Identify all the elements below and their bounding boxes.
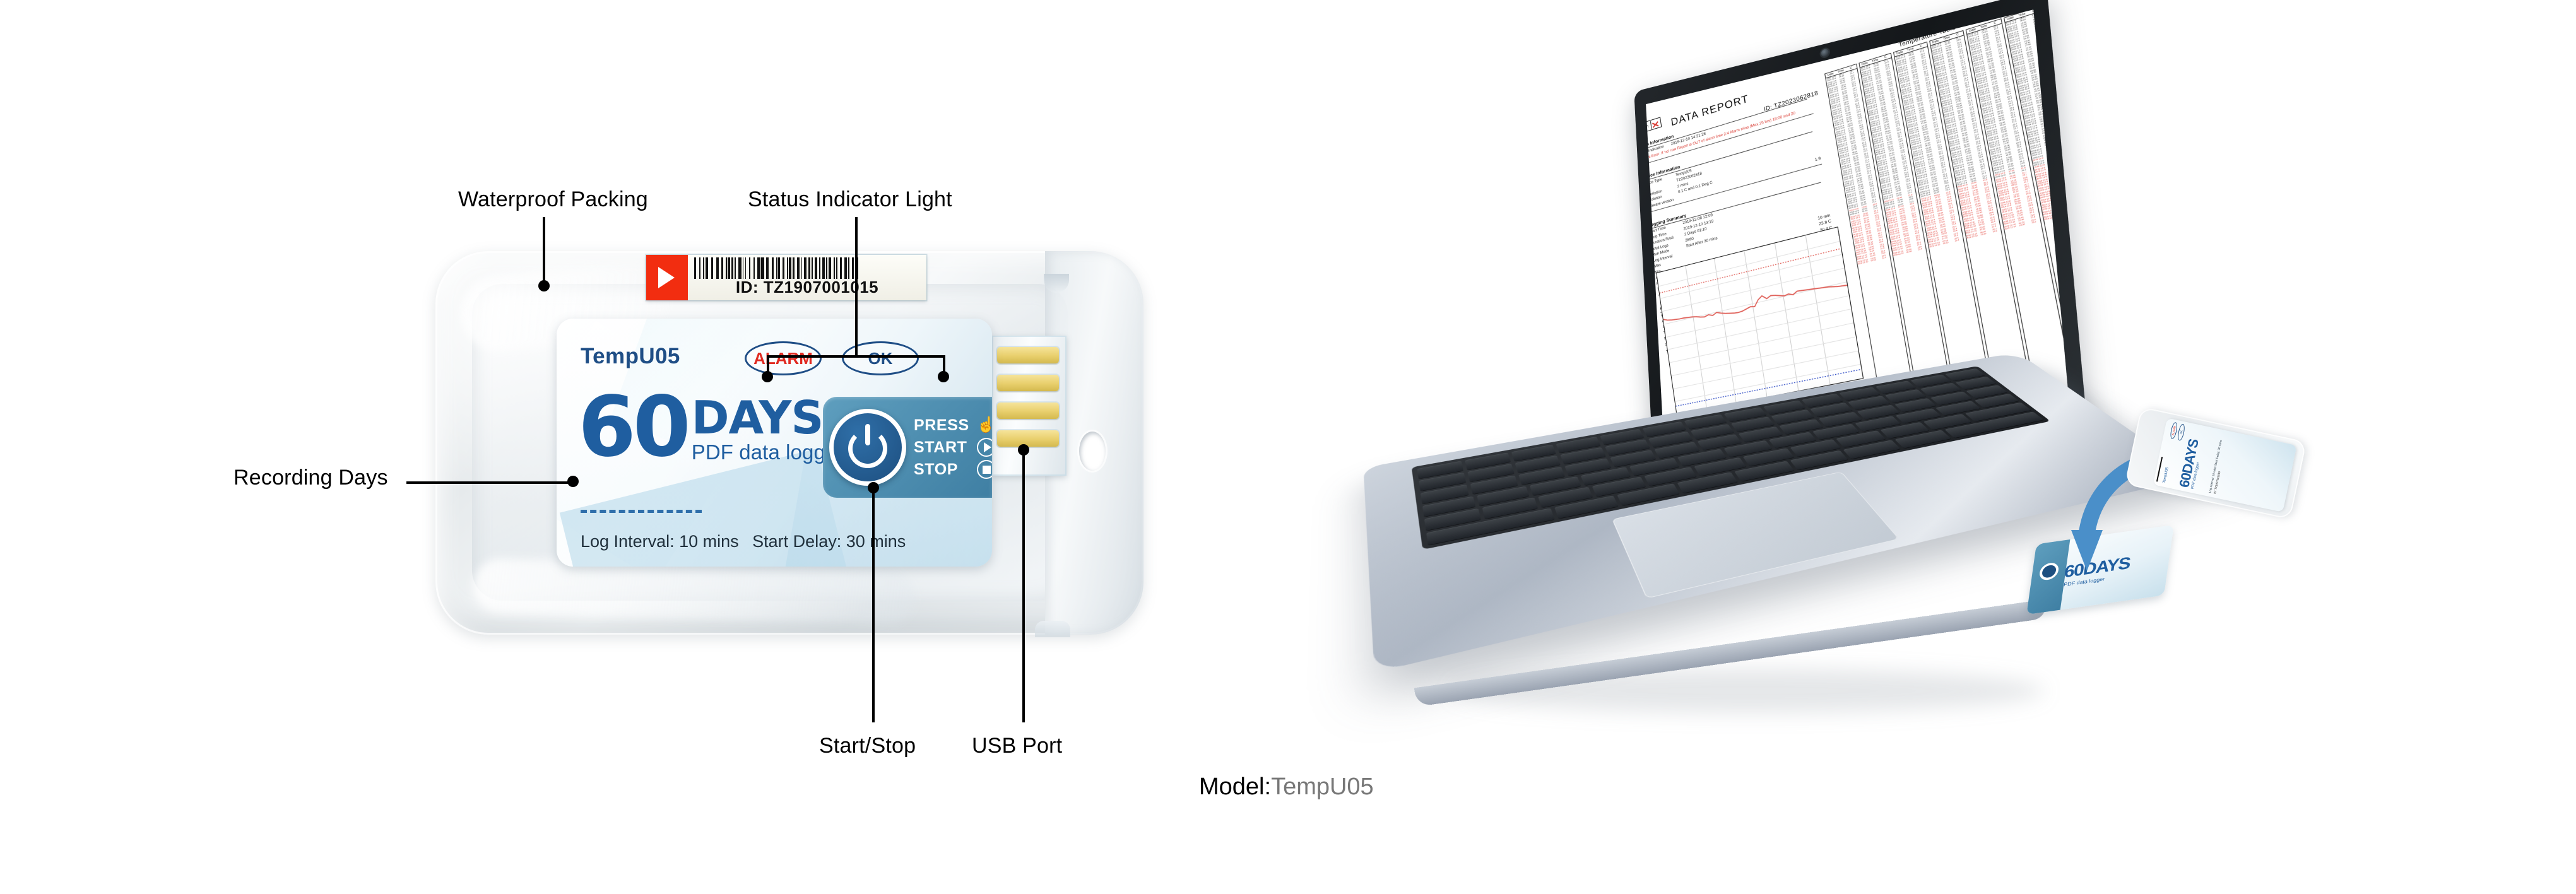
pack-bottom-tab: [1035, 621, 1070, 637]
days-word: DAYS: [692, 399, 844, 437]
table-cell-time: 17:10: [2052, 192, 2064, 197]
table-cell-temp: 21.8: [2049, 118, 2062, 124]
legend-start-label: START: [914, 438, 972, 457]
table-cell-temp: 20.6: [2047, 106, 2060, 112]
x-mark-icon: [1650, 119, 1659, 129]
table-cell-temp: 20.1: [2065, 196, 2070, 201]
table-cell-time: 09:40: [2048, 177, 2061, 183]
table-cell-temp: 22.9: [2057, 158, 2070, 163]
inserted-power-button: [2038, 562, 2059, 581]
table-cell-time: 16:20: [2055, 208, 2067, 213]
table-cell-time: 08:40: [2055, 211, 2068, 216]
legend-stop-label: STOP: [914, 461, 972, 479]
usb-contact-pad: [997, 403, 1059, 419]
table-cell-temp: 22.1: [2054, 144, 2067, 150]
usb-contact-pad: [997, 375, 1059, 391]
table-cell-temp: 20.9: [2047, 109, 2060, 114]
table-cell-time: 11:00: [2055, 213, 2068, 218]
table-cell-temp: 23.8: [2056, 153, 2069, 159]
table-cell-time: 03:00: [2048, 175, 2060, 181]
table-cell-temp: 20.9: [2036, 50, 2048, 56]
table-cell-temp: 23.2: [2037, 56, 2050, 61]
webcam-icon: [1821, 48, 1829, 57]
recording-days-block: 60 DAYS PDF data logger: [578, 393, 844, 464]
table-cell-time: 10:30: [2051, 189, 2064, 194]
table-cell-temp: 20.1: [2065, 201, 2070, 206]
callout-label-status-indicator-light: Status Indicator Light: [748, 187, 952, 212]
chart-series-temp: [1663, 276, 1848, 329]
table-cell-temp: 21.0: [2040, 74, 2053, 79]
log-interval-text: Log Interval: 10 mins: [581, 532, 739, 551]
table-cell-temp: 20.8: [2064, 191, 2070, 197]
table-cell-temp: 20.8: [2043, 88, 2056, 93]
leader-line-recording-days: [406, 481, 574, 484]
label-parameters: Log Interval: 10 mins Start Delay: 30 mi…: [581, 532, 914, 551]
usb-contact-pad: [997, 347, 1059, 363]
status-pill-ok: OK: [842, 341, 919, 375]
table-cell-temp: 22.6: [2053, 137, 2065, 143]
table-cell-temp: 23.9: [2060, 170, 2071, 175]
power-button[interactable]: [829, 409, 906, 486]
table-cell-time: 14:10: [2050, 187, 2063, 192]
start-delay-text: Start Delay: 30 mins: [752, 532, 906, 551]
table-cell-temp: 21.7: [2062, 179, 2071, 185]
model-caption-value: TempU05: [1271, 773, 1374, 800]
table-cell-temp: 20.2: [2042, 81, 2055, 86]
status-pill-alarm-label: ALARM: [753, 349, 813, 368]
legend-row-stop: STOP: [914, 460, 992, 479]
play-icon: [977, 438, 992, 457]
table-cell-temp: 22.8: [2054, 141, 2067, 147]
leader-dot-start-stop: [868, 482, 879, 493]
label-divider-dashed: [581, 510, 702, 513]
button-legend: PRESS ☝ START STOP: [906, 413, 992, 482]
table-cell-temp: 22.0: [2041, 76, 2053, 81]
usb-contact-pad: [997, 430, 1059, 447]
barcode-id-text: ID: TZ1907001015: [688, 278, 926, 297]
table-cell-time: 22:20: [2047, 168, 2059, 174]
table-cell-temp: 21.1: [2036, 53, 2048, 59]
barcode-sticker: ID: TZ1907001015: [646, 255, 926, 300]
table-cell-temp: 23.0: [2048, 111, 2060, 117]
days-number: 60: [578, 393, 688, 461]
power-icon-stem: [865, 424, 870, 445]
table-cell-temp: 20.9: [2045, 97, 2058, 103]
table-cell-time: 18:20: [2052, 196, 2065, 201]
table-cell-temp: 23.9: [2052, 132, 2065, 138]
table-cell-temp: 20.5: [2055, 148, 2068, 154]
callout-label-waterproof-packing: Waterproof Packing: [458, 187, 648, 212]
callout-label-start-stop: Start/Stop: [819, 734, 916, 758]
barcode-bars: [694, 257, 921, 279]
leader-line-waterproof: [543, 217, 545, 286]
table-cell-time: 16:50: [2054, 206, 2067, 211]
table-cell-temp: 21.2: [2062, 182, 2070, 187]
table-cell-temp: 23.3: [2067, 208, 2070, 213]
model-caption: Model:TempU05: [1199, 773, 1374, 801]
table-cell-temp: 20.7: [2038, 64, 2051, 70]
play-triangle-icon: [646, 255, 688, 300]
table-cell-time: 06:00: [2053, 201, 2066, 206]
barcode-area: ID: TZ1907001015: [688, 255, 926, 300]
stop-square-icon: [977, 460, 992, 479]
table-cell-time: 10:20: [2049, 180, 2062, 185]
table-cell-temp: 22.6: [2047, 104, 2059, 110]
table-cell-temp: 20.9: [2053, 139, 2066, 144]
legend-row-press: PRESS ☝: [914, 416, 992, 435]
table-cell-temp: 22.2: [2055, 146, 2067, 151]
usb-connector: [992, 336, 1066, 476]
table-cell-temp: 21.3: [2056, 151, 2069, 156]
table-cell-temp: 23.1: [2058, 160, 2071, 166]
table-cell-temp: 23.9: [2059, 167, 2070, 173]
table-cell-temp: 20.6: [2058, 163, 2070, 168]
report-summary-value: 1.9: [1814, 156, 1821, 163]
alarm-box-label: Alarm: [1646, 123, 1649, 132]
table-cell-temp: 20.5: [2046, 102, 2059, 107]
table-cell-temp: 20.5: [2059, 165, 2070, 170]
table-cell-temp: 21.6: [2060, 174, 2070, 180]
table-cell-temp: 21.5: [2041, 78, 2054, 84]
leader-dot-recording-days: [567, 476, 579, 487]
leader-line-start-stop: [872, 486, 875, 722]
floating-status-pill: ALARM: [2170, 421, 2178, 439]
table-cell-temp: 23.9: [2053, 134, 2065, 140]
table-cell-time: 17:30: [2053, 204, 2066, 209]
table-cell-temp: 21.2: [2063, 186, 2070, 192]
table-cell-temp: 21.2: [2044, 92, 2057, 98]
table-cell-temp: 21.4: [2049, 115, 2062, 121]
table-cell-temp: 23.4: [2050, 120, 2062, 126]
status-pill-ok-label: OK: [868, 349, 893, 368]
table-cell-temp: 21.5: [2052, 129, 2064, 135]
table-cell-temp: 21.8: [2064, 194, 2070, 199]
table-cell-time: 10:50: [2052, 194, 2064, 199]
table-cell-temp: 22.4: [2048, 113, 2061, 119]
table-cell-temp: 22.0: [2050, 122, 2063, 128]
table-cell-temp: 21.6: [2042, 83, 2055, 88]
table-cell-time: 19:20: [2050, 185, 2062, 190]
table-cell-time: 17:50: [2047, 170, 2060, 176]
callout-label-usb-port: USB Port: [972, 734, 1062, 758]
leader-dot-alarm: [762, 371, 773, 382]
leader-dot-waterproof: [538, 280, 550, 291]
leader-line-status-bracket: [767, 355, 945, 358]
table-cell-temp: 20.3: [2045, 99, 2058, 105]
table-cell-temp: 22.5: [2038, 60, 2050, 66]
label-model-name: TempU05: [581, 344, 680, 369]
leader-dot-usb-port: [1018, 444, 1029, 456]
table-cell-temp: 23.0: [2061, 177, 2070, 182]
table-cell-temp: 21.5: [2037, 57, 2050, 63]
leader-line-status-main: [855, 217, 858, 358]
table-cell-temp: 20.2: [2051, 127, 2064, 133]
table-cell-temp: 22.4: [2040, 69, 2052, 74]
table-cell-temp: 22.7: [2051, 125, 2064, 131]
callout-label-recording-days: Recording Days: [233, 466, 388, 490]
alarm-status-box: Alarm: [1646, 117, 1662, 135]
status-pill-alarm: ALARM: [745, 341, 822, 375]
table-cell-temp: 23.1: [2064, 189, 2071, 194]
button-panel: PRESS ☝ START STOP: [823, 397, 992, 498]
table-cell-temp: 21.9: [2039, 67, 2052, 73]
table-cell-temp: 22.8: [2060, 172, 2070, 178]
leader-line-usb-port: [1022, 448, 1025, 722]
table-cell-temp: 21.6: [2044, 90, 2057, 95]
laptop: Alarm DATA REPORT ID: TZ2023062818 Alarm…: [1382, 76, 2095, 707]
table-cell-temp: 23.6: [2066, 203, 2070, 208]
model-caption-prefix: Model:: [1199, 773, 1271, 800]
table-cell-temp: 21.8: [2065, 198, 2071, 203]
table-cell-temp: 23.8: [2043, 85, 2055, 91]
table-cell-temp: 20.5: [2040, 71, 2053, 77]
touch-hand-icon: ☝: [977, 416, 992, 435]
leader-dot-ok: [938, 371, 949, 382]
table-cell-temp: 23.9: [2038, 62, 2051, 68]
hang-hole: [1079, 432, 1106, 471]
label-subtitle: PDF data logger: [692, 440, 844, 464]
legend-row-start: START: [914, 438, 992, 457]
table-cell-temp: 20.1: [2067, 210, 2070, 215]
table-cell-time: 03:50: [2048, 173, 2060, 179]
table-cell-temp: 20.8: [2045, 95, 2057, 100]
table-cell-time: 18:20: [2053, 199, 2065, 204]
table-cell-temp: 22.8: [2067, 206, 2070, 211]
legend-press-label: PRESS: [914, 416, 972, 435]
table-cell-temp: 23.0: [2057, 155, 2069, 161]
table-cell-temp: 22.8: [2062, 184, 2070, 190]
table-cell-time: 15:00: [2050, 182, 2062, 188]
